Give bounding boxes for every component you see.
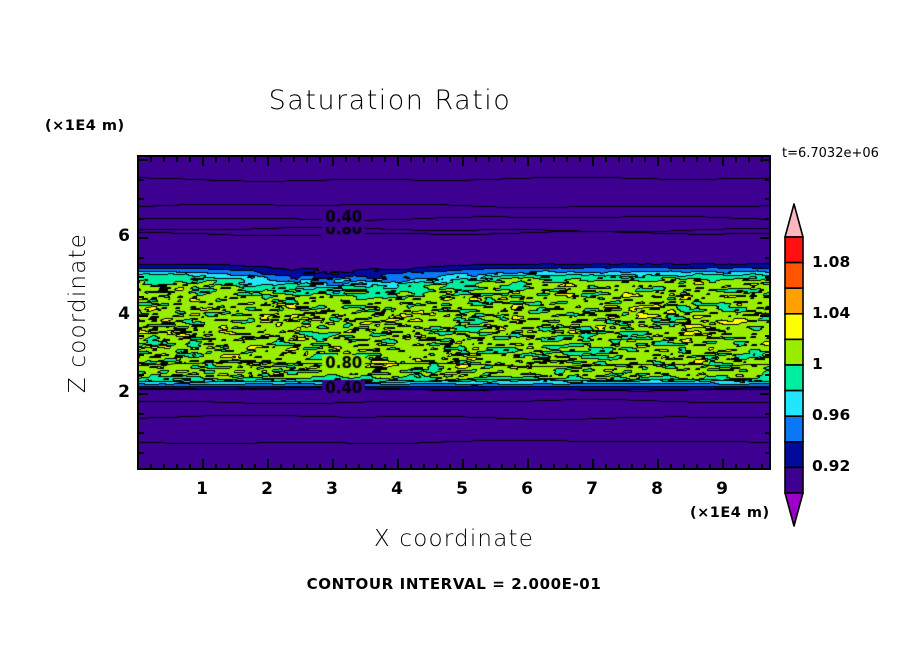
y-tick-mark-right [765,296,770,298]
x-tick-mark-top [397,157,399,166]
x-tick-mark-top [332,157,334,166]
x-tick-mark [488,464,490,469]
y-tick-label: 2 [100,382,130,402]
x-tick-mark [306,464,308,469]
y-axis-units-label: (×1E4 m) [45,118,125,134]
y-tick-mark [139,413,144,415]
x-tick-mark-top [735,157,737,162]
x-tick-mark [553,464,555,469]
x-tick-mark-top [540,157,542,162]
y-tick-mark [139,393,148,395]
y-tick-mark-right [760,237,769,239]
x-tick-mark [683,464,685,469]
y-tick-mark-right [765,276,770,278]
y-tick-mark [139,452,144,454]
y-tick-mark [139,276,144,278]
x-tick-mark-top [696,157,698,162]
x-tick-mark-top [605,157,607,162]
x-tick-mark-top [501,157,503,162]
y-tick-mark-right [765,432,770,434]
time-annotation: t=6.7032e+06 [782,146,879,161]
colorbar-band [785,237,803,263]
x-tick-mark-top [488,157,490,162]
x-tick-mark [332,459,334,468]
y-axis-title: Z coordinate [65,213,91,413]
colorbar-band [785,442,803,468]
y-tick-mark [139,237,148,239]
x-tick-mark [163,464,165,469]
y-tick-mark [139,432,144,434]
x-tick-mark-top [436,157,438,162]
x-tick-mark-top [722,157,724,166]
x-tick-mark-top [683,157,685,162]
y-tick-mark [139,198,144,200]
x-tick-mark [475,464,477,469]
x-tick-mark [267,459,269,468]
y-tick-label: 4 [100,304,130,324]
x-tick-mark [371,464,373,469]
colorbar-band [785,314,803,340]
y-tick-label: 6 [100,226,130,246]
y-tick-mark-right [765,452,770,454]
x-tick-mark [241,464,243,469]
colorbar-swatches [784,203,804,527]
x-tick-mark-top [150,157,152,162]
y-tick-mark-right [765,218,770,220]
y-tick-mark-right [765,257,770,259]
x-tick-mark [228,464,230,469]
x-tick-mark [345,464,347,469]
x-tick-mark [605,464,607,469]
x-tick-mark-top [254,157,256,162]
x-tick-mark [540,464,542,469]
x-tick-mark [618,464,620,469]
x-tick-mark [735,464,737,469]
x-tick-mark [501,464,503,469]
x-tick-mark-top [241,157,243,162]
x-tick-mark [449,464,451,469]
colorbar-tick-label: 1.08 [812,253,850,271]
colorbar-tick-label: 0.92 [812,457,850,475]
x-tick-mark-top [423,157,425,162]
x-tick-mark [384,464,386,469]
y-tick-mark-right [760,159,769,161]
x-tick-mark [397,459,399,468]
x-tick-mark-top [280,157,282,162]
x-tick-mark [319,464,321,469]
x-tick-mark [176,464,178,469]
colorbar-tick-label: 0.96 [812,406,850,424]
y-tick-mark-right [760,315,769,317]
y-tick-mark-right [760,393,769,395]
x-tick-mark-top [345,157,347,162]
x-tick-mark-top [618,157,620,162]
y-tick-mark [139,179,144,181]
x-tick-mark-top [189,157,191,162]
colorbar-cap-bottom [785,493,803,526]
x-tick-mark [527,459,529,468]
x-tick-mark-top [657,157,659,166]
x-tick-mark-top [371,157,373,162]
x-tick-mark-top [293,157,295,162]
x-tick-mark [722,459,724,468]
y-tick-mark-right [765,354,770,356]
x-tick-mark-top [748,157,750,162]
x-tick-mark-top [384,157,386,162]
colorbar-tick-label: 1 [812,355,823,373]
contour-interval-note: CONTOUR INTERVAL = 2.000E-01 [137,575,771,593]
x-tick-mark [254,464,256,469]
x-tick-mark-top [631,157,633,162]
colorbar-band [785,263,803,289]
x-tick-mark [566,464,568,469]
x-tick-mark [670,464,672,469]
x-tick-mark [189,464,191,469]
x-tick-mark [150,464,152,469]
x-tick-mark-top [358,157,360,162]
x-tick-mark [423,464,425,469]
x-tick-mark [761,464,763,469]
x-tick-mark [215,464,217,469]
y-tick-mark [139,257,144,259]
colorbar-band [785,467,803,493]
x-tick-mark-top [267,157,269,166]
x-tick-mark [696,464,698,469]
x-tick-label: 8 [642,479,672,499]
x-tick-mark [709,464,711,469]
x-tick-mark [579,464,581,469]
y-tick-mark-right [765,179,770,181]
x-tick-label: 2 [252,479,282,499]
x-tick-label: 5 [447,479,477,499]
y-tick-mark [139,159,148,161]
colorbar-band [785,416,803,442]
colorbar-band [785,391,803,417]
x-tick-mark-top [306,157,308,162]
x-tick-mark-top [202,157,204,166]
x-tick-mark [358,464,360,469]
colorbar-cap-top [785,204,803,237]
y-tick-mark [139,374,144,376]
x-tick-mark [514,464,516,469]
x-tick-mark [293,464,295,469]
colorbar-tick-label: 1.04 [812,304,850,322]
x-tick-label: 3 [317,479,347,499]
x-tick-mark-top [514,157,516,162]
x-tick-mark [462,459,464,468]
x-tick-label: 4 [382,479,412,499]
contour-field-canvas [139,157,769,468]
page-title: Saturation Ratio [0,85,780,116]
x-axis-title: X coordinate [137,526,771,552]
x-tick-mark-top [163,157,165,162]
x-tick-mark-top [709,157,711,162]
x-tick-mark-top [527,157,529,166]
x-tick-mark-top [553,157,555,162]
x-tick-label: 7 [577,479,607,499]
x-tick-mark-top [319,157,321,162]
x-tick-mark [631,464,633,469]
y-tick-mark-right [765,335,770,337]
y-tick-mark-right [765,198,770,200]
y-tick-mark-right [765,413,770,415]
y-tick-mark [139,354,144,356]
x-tick-mark [657,459,659,468]
x-tick-mark-top [449,157,451,162]
colorbar-band [785,288,803,314]
x-tick-mark-top [475,157,477,162]
x-tick-mark [592,459,594,468]
x-tick-mark-top [410,157,412,162]
colorbar-band [785,365,803,391]
x-tick-mark-top [176,157,178,162]
x-tick-mark-top [670,157,672,162]
colorbar[interactable] [784,203,804,527]
x-axis-units-label: (×1E4 m) [690,505,770,521]
x-tick-mark-top [566,157,568,162]
y-tick-mark [139,218,144,220]
x-tick-mark-top [644,157,646,162]
x-tick-mark [748,464,750,469]
x-tick-label: 6 [512,479,542,499]
contour-plot-area[interactable] [137,155,771,470]
x-tick-label: 9 [707,479,737,499]
y-tick-mark [139,315,148,317]
x-tick-mark [644,464,646,469]
x-tick-mark-top [592,157,594,166]
x-tick-mark-top [462,157,464,166]
x-tick-mark [202,459,204,468]
y-tick-mark [139,296,144,298]
x-tick-mark-top [228,157,230,162]
x-tick-mark [280,464,282,469]
x-tick-mark [410,464,412,469]
x-tick-mark-top [215,157,217,162]
x-tick-mark-top [579,157,581,162]
colorbar-band [785,339,803,365]
y-tick-mark-right [765,374,770,376]
y-tick-mark [139,335,144,337]
x-tick-label: 1 [187,479,217,499]
x-tick-mark [436,464,438,469]
